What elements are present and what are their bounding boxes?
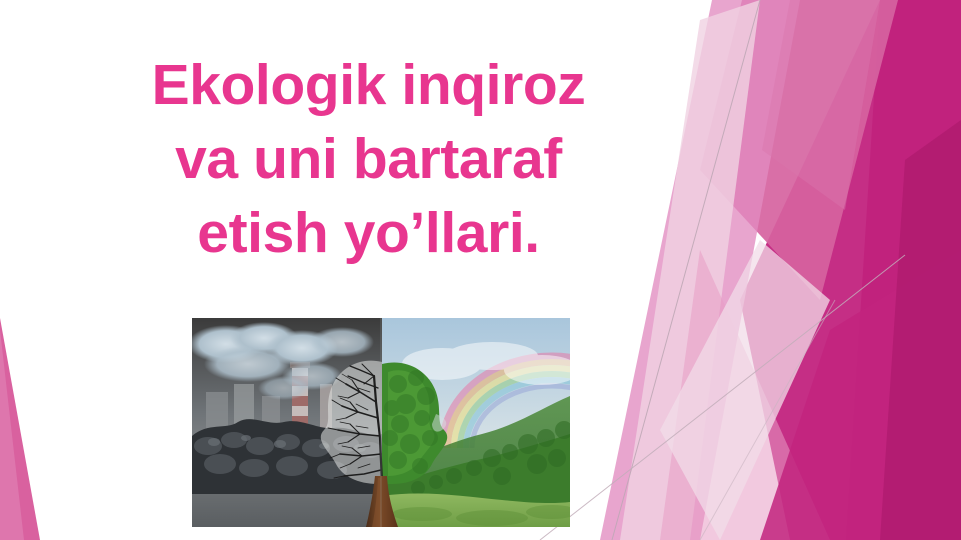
- shard-magenta: [740, 0, 961, 540]
- hairline-short: [700, 300, 835, 540]
- shard-pink-upper-soft: [762, 0, 880, 210]
- shard-pink-bottom-left: [0, 318, 40, 540]
- shard-pink-wash-lower: [660, 250, 830, 540]
- title-line-1: Ekologik inqiroz: [46, 48, 691, 122]
- slide-title: Ekologik inqiroz va uni bartaraf etish y…: [46, 48, 691, 270]
- title-line-2: va uni bartaraf: [46, 122, 691, 196]
- title-line-3: etish yo’llari.: [46, 196, 691, 270]
- shard-magenta-shadow: [880, 120, 961, 540]
- shard-magenta-dark: [846, 0, 961, 540]
- hairline-lower: [540, 255, 905, 540]
- slide-image-ecology-split: [192, 318, 570, 527]
- shard-magenta-lower: [760, 250, 961, 540]
- shard-pale-mid: [660, 240, 830, 540]
- shard-pink-mid-upper: [700, 0, 898, 300]
- halves-seam: [380, 318, 382, 527]
- shard-pink-bottom-left-light: [0, 330, 24, 540]
- presentation-slide: Ekologik inqiroz va uni bartaraf etish y…: [0, 0, 961, 540]
